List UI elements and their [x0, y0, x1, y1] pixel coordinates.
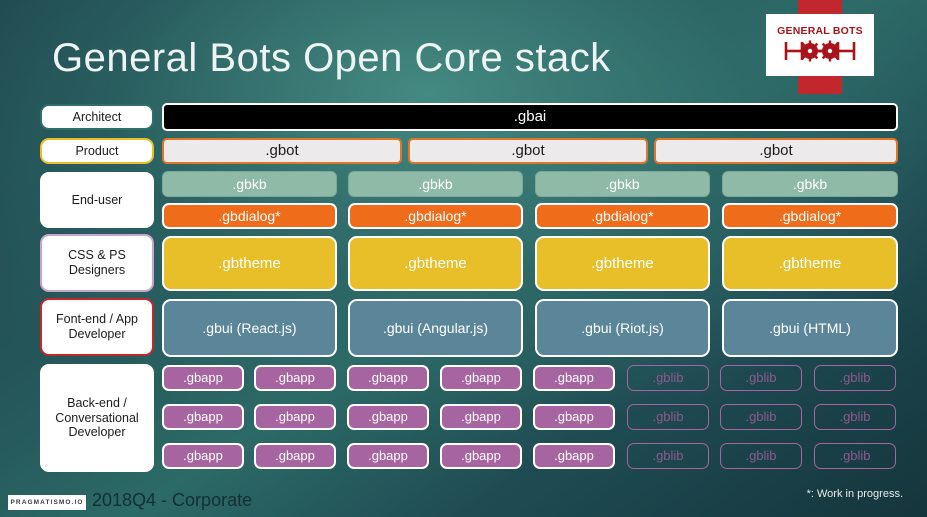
role-card-backend-conversational-developer: Back-end / Conversational Developer	[40, 364, 154, 472]
stack-box-label: .gbkb	[418, 176, 452, 193]
stack-box-label: .gbapp	[554, 370, 594, 385]
stack-box-gblib: .gblib	[720, 443, 802, 469]
stack-box-label: .gblib	[652, 409, 683, 424]
stack-box-label: .gbapp	[183, 409, 223, 424]
role-label: CSS & PS Designers	[68, 248, 126, 278]
stack-box-gblib: .gblib	[627, 365, 709, 391]
stack-box-gbapp: .gbapp	[347, 365, 429, 391]
stack-box-gbapp: .gbapp	[533, 404, 615, 430]
stack-box-label: .gbot	[759, 142, 792, 160]
role-card-product: Product	[40, 138, 154, 164]
gears-logo-icon	[780, 38, 860, 64]
stack-box-label: .gblib	[839, 370, 870, 385]
role-label: Back-end / Conversational Developer	[55, 396, 138, 440]
stack-box-label: .gbapp	[461, 409, 501, 424]
stack-box-label: .gbdialog*	[404, 208, 466, 225]
stack-box-label: .gbui (Riot.js)	[581, 320, 663, 337]
stack-box-gblib: .gblib	[814, 443, 896, 469]
stack-box-label: .gbapp	[554, 448, 594, 463]
footer-caption: 2018Q4 - Corporate	[92, 490, 252, 511]
role-card-architect: Architect	[40, 104, 154, 130]
stack-box-gbdialog: .gbdialog*	[535, 203, 710, 229]
stack-box-label: .gbapp	[554, 409, 594, 424]
stack-box-gbkb: .gbkb	[348, 171, 523, 197]
stack-box-label: .gbapp	[368, 409, 408, 424]
stack-box-gbtheme: .gbtheme	[348, 236, 523, 291]
slide-canvas: GENERAL BOTS	[0, 0, 927, 517]
stack-box-label: .gbkb	[605, 176, 639, 193]
stack-box-label: .gbot	[511, 142, 544, 160]
stack-box-label: .gbtheme	[218, 255, 281, 273]
stack-box-gbkb: .gbkb	[162, 171, 337, 197]
stack-box-gbdialog: .gbdialog*	[162, 203, 337, 229]
role-label: Architect	[73, 110, 122, 125]
stack-box-label: .gblib	[839, 448, 870, 463]
stack-box-label: .gbapp	[275, 409, 315, 424]
stack-box-gbtheme: .gbtheme	[722, 236, 898, 291]
pragmatismo-label: PRAGMATISMO.IO	[10, 499, 83, 506]
stack-box-gblib: .gblib	[627, 443, 709, 469]
stack-box-label: .gbtheme	[591, 255, 654, 273]
page-title: General Bots Open Core stack	[52, 36, 611, 81]
stack-box-gblib: .gblib	[814, 404, 896, 430]
stack-box-gbui-html: .gbui (HTML)	[722, 299, 898, 357]
stack-box-label: .gbapp	[183, 448, 223, 463]
stack-box-gbui-angular: .gbui (Angular.js)	[348, 299, 523, 357]
stack-box-label: .gbai	[514, 108, 547, 126]
stack-box-label: .gbapp	[275, 370, 315, 385]
stack-box-label: .gbapp	[183, 370, 223, 385]
stack-box-gbkb: .gbkb	[535, 171, 710, 197]
stack-box-label: .gblib	[839, 409, 870, 424]
footnote-work-in-progress: *: Work in progress.	[807, 488, 903, 500]
stack-box-label: .gbapp	[461, 448, 501, 463]
stack-box-gbapp: .gbapp	[440, 443, 522, 469]
logo-wordmark: GENERAL BOTS	[777, 26, 863, 37]
stack-box-label: .gbot	[265, 142, 298, 160]
stack-box-label: .gblib	[652, 448, 683, 463]
stack-box-label: .gbui (HTML)	[769, 320, 851, 337]
stack-box-label: .gblib	[745, 370, 776, 385]
stack-box-gbapp: .gbapp	[254, 365, 336, 391]
stack-box-gbdialog: .gbdialog*	[722, 203, 898, 229]
stack-box-label: .gbdialog*	[218, 208, 280, 225]
stack-box-label: .gbkb	[232, 176, 266, 193]
stack-box-label: .gbapp	[275, 448, 315, 463]
stack-box-gbapp: .gbapp	[440, 404, 522, 430]
stack-box-gbapp: .gbapp	[533, 443, 615, 469]
role-card-end-user: End-user	[40, 172, 154, 228]
stack-box-gbapp: .gbapp	[162, 404, 244, 430]
role-card-css-ps-designers: CSS & PS Designers	[40, 234, 154, 292]
stack-box-gbapp: .gbapp	[254, 404, 336, 430]
stack-box-gblib: .gblib	[627, 404, 709, 430]
stack-box-label: .gblib	[652, 370, 683, 385]
stack-box-gbai: .gbai	[162, 103, 898, 131]
stack-box-gbapp: .gbapp	[254, 443, 336, 469]
stack-box-gbkb: .gbkb	[722, 171, 898, 197]
stack-box-label: .gbapp	[368, 370, 408, 385]
stack-box-label: .gblib	[745, 409, 776, 424]
stack-box-gblib: .gblib	[720, 404, 802, 430]
role-card-frontend-app-developer: Font-end / App Developer	[40, 298, 154, 356]
pragmatismo-logo: PRAGMATISMO.IO	[8, 495, 86, 510]
role-label: End-user	[72, 193, 123, 208]
stack-box-gbot: .gbot	[408, 138, 648, 164]
stack-box-gbapp: .gbapp	[347, 404, 429, 430]
stack-box-gbot: .gbot	[162, 138, 402, 164]
stack-box-label: .gbapp	[368, 448, 408, 463]
stack-box-gblib: .gblib	[814, 365, 896, 391]
stack-box-label: .gbdialog*	[779, 208, 841, 225]
general-bots-logo: GENERAL BOTS	[766, 14, 874, 76]
stack-box-gbot: .gbot	[654, 138, 898, 164]
stack-box-gbapp: .gbapp	[162, 443, 244, 469]
stack-box-gbui-react: .gbui (React.js)	[162, 299, 337, 357]
role-label: Font-end / App Developer	[56, 312, 138, 342]
stack-box-label: .gbtheme	[779, 255, 842, 273]
stack-box-gbtheme: .gbtheme	[535, 236, 710, 291]
stack-box-gbapp: .gbapp	[533, 365, 615, 391]
stack-box-gbapp: .gbapp	[347, 443, 429, 469]
stack-box-label: .gblib	[745, 448, 776, 463]
stack-box-gbui-riot: .gbui (Riot.js)	[535, 299, 710, 357]
stack-box-label: .gbtheme	[404, 255, 467, 273]
stack-box-label: .gbapp	[461, 370, 501, 385]
stack-box-label: .gbui (React.js)	[202, 320, 296, 337]
stack-box-gbapp: .gbapp	[162, 365, 244, 391]
stack-box-gblib: .gblib	[720, 365, 802, 391]
stack-box-label: .gbdialog*	[591, 208, 653, 225]
role-label: Product	[75, 144, 118, 159]
stack-box-label: .gbkb	[793, 176, 827, 193]
stack-box-gbapp: .gbapp	[440, 365, 522, 391]
stack-box-gbdialog: .gbdialog*	[348, 203, 523, 229]
stack-box-gbtheme: .gbtheme	[162, 236, 337, 291]
stack-box-label: .gbui (Angular.js)	[383, 320, 488, 337]
